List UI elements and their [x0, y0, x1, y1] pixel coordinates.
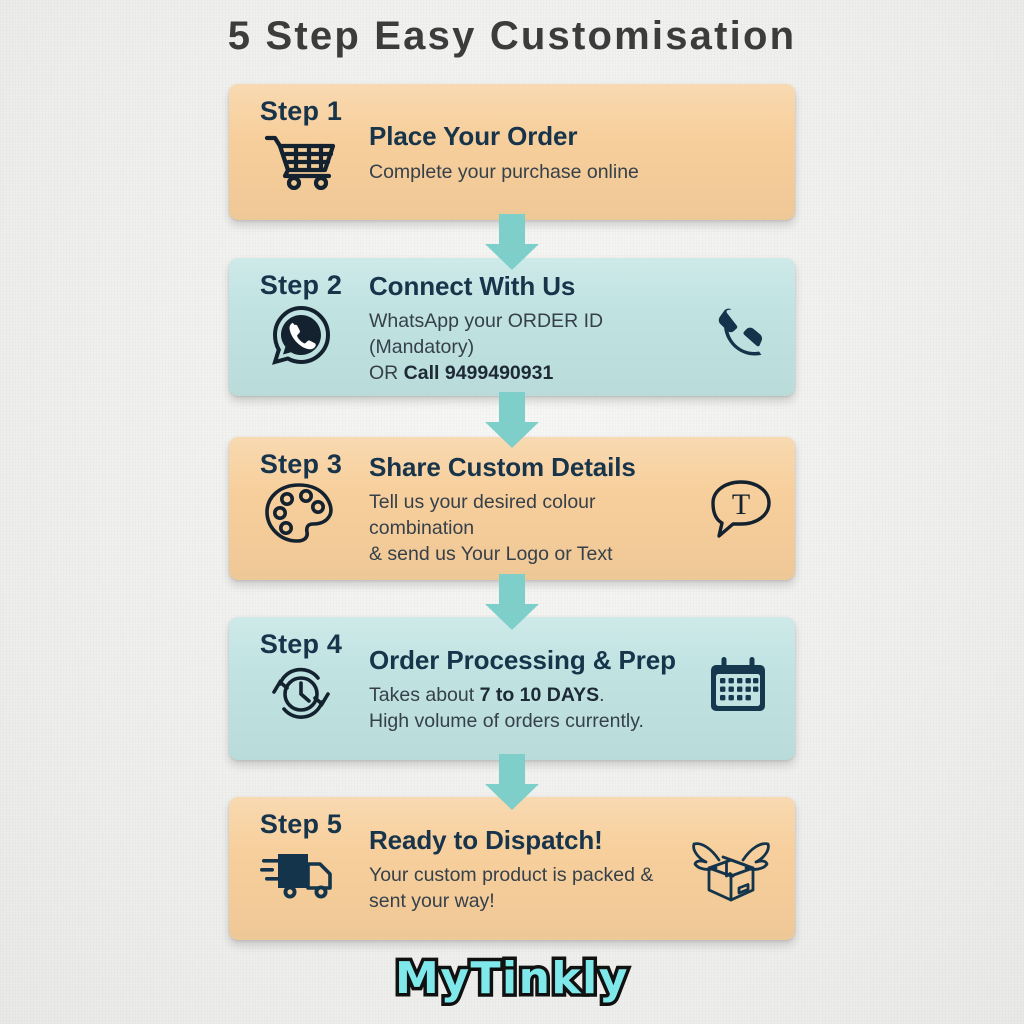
step-2-label: Step 2 — [260, 272, 342, 299]
step-5-label: Step 5 — [260, 811, 342, 838]
step-card-1[interactable]: Step 1 Place Your Order Complete your pu… — [229, 84, 795, 220]
step-4-body-line2: High volume of orders currently. — [369, 709, 699, 735]
step-1-left-column: Step 1 — [239, 84, 363, 220]
step-4-body-suffix: . — [599, 684, 604, 706]
phone-handset-icon — [703, 294, 781, 372]
whatsapp-icon — [259, 304, 343, 366]
step-4-left-column: Step 4 — [239, 617, 363, 760]
step-5-body-line2: sent your way! — [369, 889, 699, 915]
paint-palette-icon — [259, 483, 343, 545]
step-5-left-column: Step 5 — [239, 797, 363, 940]
page-title: 5 Step Easy Customisation — [0, 14, 1024, 59]
shopping-cart-icon — [259, 130, 343, 192]
step-4-body-line1: Takes about 7 to 10 DAYS. — [369, 683, 699, 709]
clock-refresh-icon — [259, 663, 343, 725]
step-5-heading: Ready to Dispatch! — [369, 826, 699, 855]
step-3-body-line2: & send us Your Logo or Text — [369, 542, 699, 568]
step-2-heading: Connect With Us — [369, 272, 699, 301]
step-4-label: Step 4 — [260, 631, 342, 658]
step-2-left-column: Step 2 — [239, 258, 363, 396]
step-3-heading: Share Custom Details — [369, 453, 699, 482]
step-card-4[interactable]: Step 4 Order Processing & Prep Takes abo… — [229, 617, 795, 760]
step-3-text-column: Share Custom Details Tell us your desire… — [369, 437, 699, 580]
step-4-duration: 7 to 10 DAYS — [480, 684, 600, 706]
speech-bubble-letter: T — [732, 488, 750, 521]
step-3-body-line1: Tell us your desired colour combination — [369, 490, 699, 542]
step-4-heading: Order Processing & Prep — [369, 646, 699, 675]
calendar-icon — [703, 651, 773, 721]
step-2-body-line2-prefix: OR — [369, 362, 404, 384]
step-3-left-column: Step 3 — [239, 437, 363, 580]
infographic-poster: 5 Step Easy Customisation Step 1 Place Y… — [0, 0, 1024, 1024]
step-1-text-column: Place Your Order Complete your purchase … — [369, 84, 699, 220]
step-1-label: Step 1 — [260, 98, 342, 125]
step-2-body-line1: WhatsApp your ORDER ID (Mandatory) — [369, 309, 699, 361]
step-2-phone-call-text: Call 9499490931 — [404, 362, 554, 384]
brand-logo-text: MyTinkly — [395, 953, 629, 1004]
step-4-body-prefix: Takes about — [369, 684, 480, 706]
step-card-3[interactable]: Step 3 Share Custom Details Tell us your… — [229, 437, 795, 580]
step-5-body-line1: Your custom product is packed & — [369, 863, 699, 889]
step-1-body-line1: Complete your purchase online — [369, 160, 699, 186]
winged-package-icon — [689, 829, 773, 913]
step-2-text-column: Connect With Us WhatsApp your ORDER ID (… — [369, 258, 699, 396]
delivery-truck-icon — [259, 843, 343, 905]
step-2-body-line2: OR Call 9499490931 — [369, 361, 699, 387]
brand-logo: MyTinkly — [0, 953, 1024, 1004]
step-card-2[interactable]: Step 2 Connect With Us WhatsApp your ORD… — [229, 258, 795, 396]
text-speech-bubble-icon: T — [705, 473, 777, 545]
step-4-text-column: Order Processing & Prep Takes about 7 to… — [369, 617, 699, 760]
step-card-5[interactable]: Step 5 Ready to Dispatch! Your custom pr… — [229, 797, 795, 940]
step-1-heading: Place Your Order — [369, 122, 699, 151]
step-3-label: Step 3 — [260, 451, 342, 478]
step-5-text-column: Ready to Dispatch! Your custom product i… — [369, 797, 699, 940]
